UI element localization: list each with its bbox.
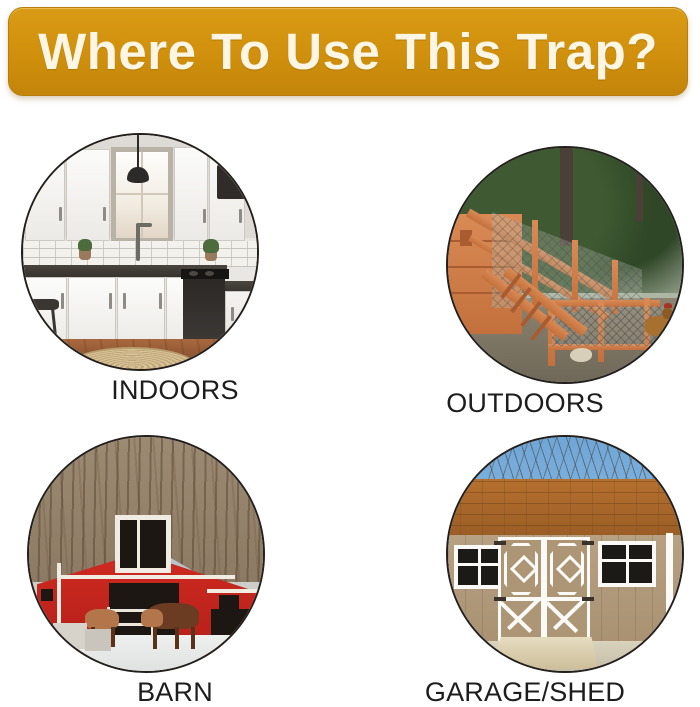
garage-shed-photo-circle [446,435,684,673]
location-card-indoors: INDOORS [0,118,350,409]
header-banner: Where To Use This Trap? [8,7,688,96]
use-locations-grid: INDOORS [0,118,700,700]
barn-photo-circle [27,435,265,673]
kitchen-scene [23,135,257,369]
chicken-coop-scene [448,148,682,382]
location-card-barn: BARN [0,409,350,700]
location-card-outdoors: OUTDOORS [350,118,700,409]
location-card-garage-shed: GARAGE/SHED [350,409,700,700]
page-title: Where To Use This Trap? [38,26,658,77]
indoors-photo-circle [21,133,259,371]
caption-barn: BARN [0,679,350,706]
caption-garage-shed: GARAGE/SHED [350,679,700,706]
barn-scene [29,437,263,671]
shed-scene [448,437,682,671]
outdoors-photo-circle [446,146,684,384]
caption-indoors: INDOORS [0,377,350,404]
